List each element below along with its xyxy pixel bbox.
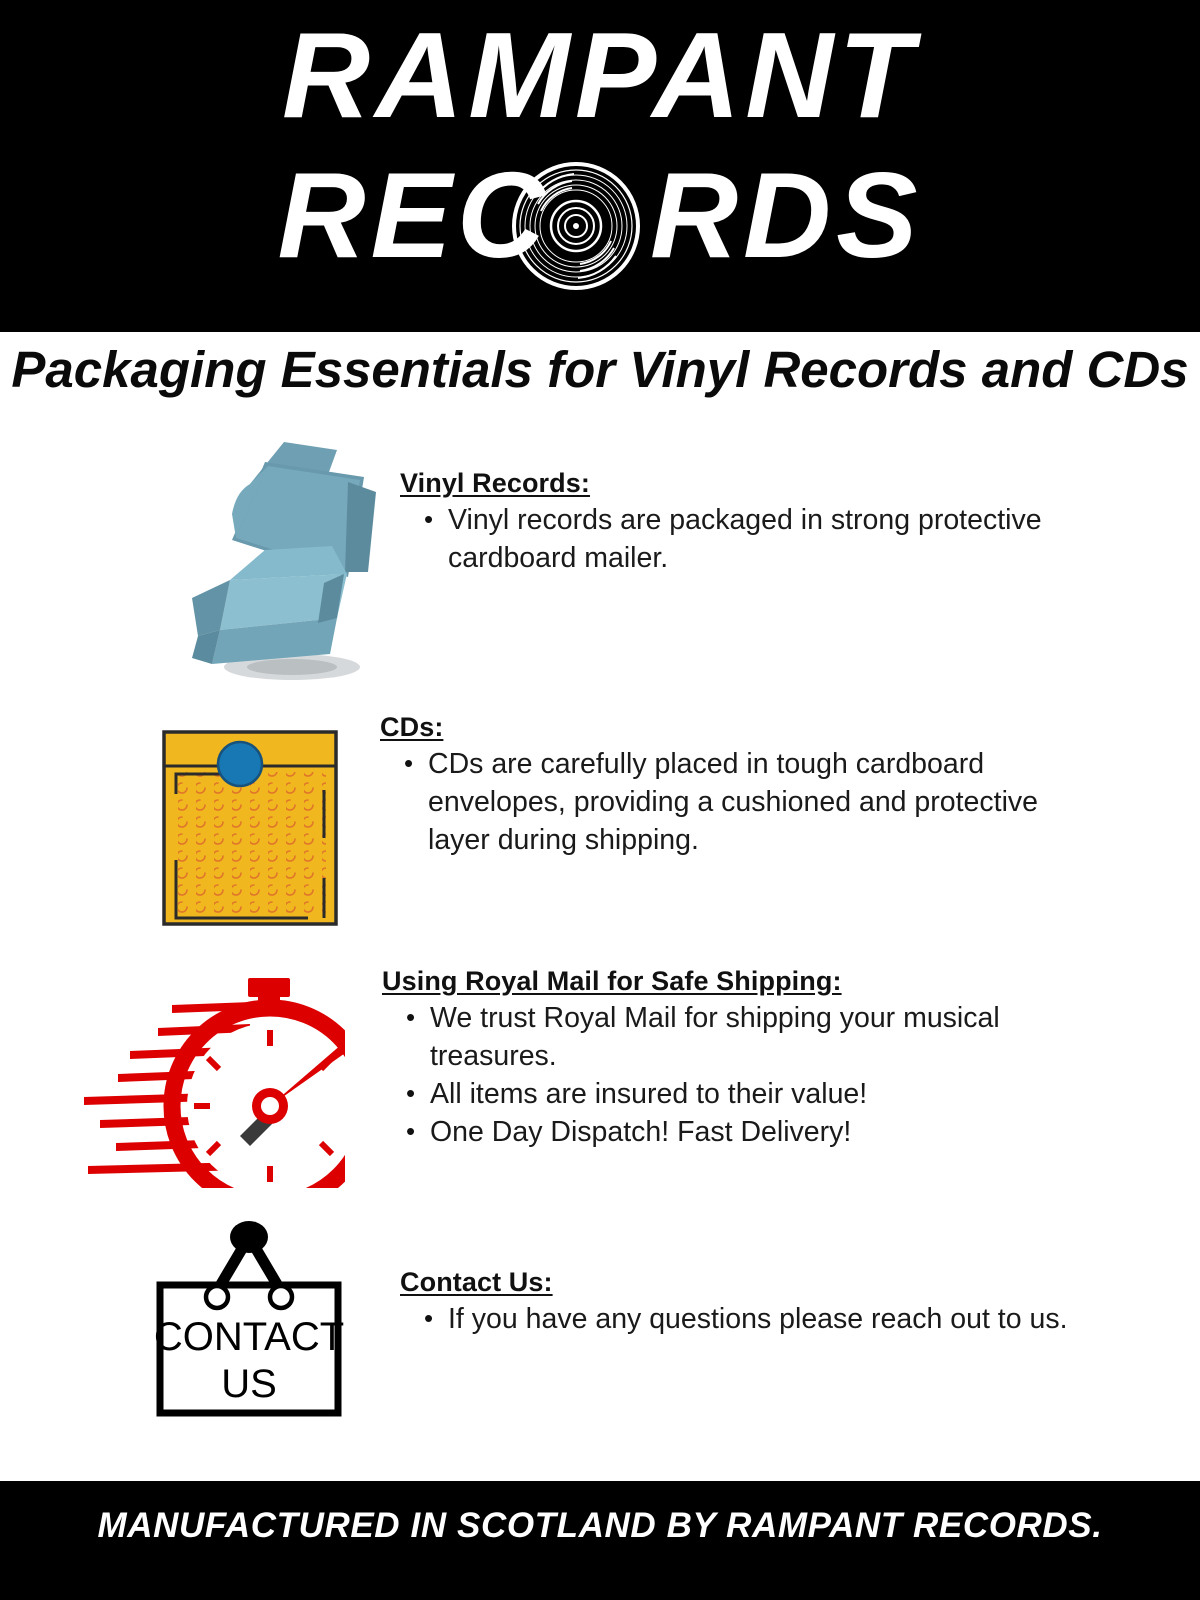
royal-mail-heading: Using Royal Mail for Safe Shipping: <box>382 966 1102 997</box>
list-item: One Day Dispatch! Fast Delivery! <box>430 1113 1102 1151</box>
vinyl-text-block: Vinyl Records: Vinyl records are package… <box>400 468 1120 577</box>
page-subtitle: Packaging Essentials for Vinyl Records a… <box>0 340 1200 399</box>
royal-mail-text-block: Using Royal Mail for Safe Shipping: We t… <box>382 966 1102 1151</box>
logo-line-records: RECORDS <box>277 148 922 282</box>
footer-text: MANUFACTURED IN SCOTLAND BY RAMPANT RECO… <box>0 1506 1200 1546</box>
footer-banner: MANUFACTURED IN SCOTLAND BY RAMPANT RECO… <box>0 1481 1200 1600</box>
royal-mail-bullet-list: We trust Royal Mail for shipping your mu… <box>382 999 1102 1151</box>
vinyl-heading: Vinyl Records: <box>400 468 1120 499</box>
contact-sign-line1: CONTACT <box>154 1315 344 1359</box>
contact-heading: Contact Us: <box>400 1267 1120 1298</box>
contact-bullet-list: If you have any questions please reach o… <box>400 1300 1120 1338</box>
cds-bullet-list: CDs are carefully placed in tough cardbo… <box>380 745 1100 859</box>
logo-records-suffix: RDS <box>650 147 923 283</box>
list-item: CDs are carefully placed in tough cardbo… <box>428 745 1100 859</box>
list-item: Vinyl records are packaged in strong pro… <box>448 501 1120 577</box>
hanging-contact-us-sign-icon: CONTACT US <box>142 1215 357 1420</box>
list-item: All items are insured to their value! <box>430 1075 1102 1113</box>
contact-text-block: Contact Us: If you have any questions pl… <box>400 1267 1120 1338</box>
header-banner: RAMPANT RECORDS <box>0 0 1200 332</box>
list-item: If you have any questions please reach o… <box>448 1300 1120 1338</box>
cds-text-block: CDs: CDs are carefully placed in tough c… <box>380 712 1100 859</box>
contact-sign-line2: US <box>221 1362 277 1406</box>
cardboard-mailer-box-icon <box>132 422 412 692</box>
padded-bubble-envelope-icon <box>160 728 340 928</box>
logo-line-rampant: RAMPANT <box>0 8 1200 142</box>
vinyl-bullet-list: Vinyl records are packaged in strong pro… <box>400 501 1120 577</box>
logo-records-prefix: REC <box>277 147 550 283</box>
list-item: We trust Royal Mail for shipping your mu… <box>430 999 1102 1075</box>
logo-line-records-wrap: RECORDS <box>0 148 1200 298</box>
fast-stopwatch-icon <box>80 958 345 1188</box>
cds-heading: CDs: <box>380 712 1100 743</box>
